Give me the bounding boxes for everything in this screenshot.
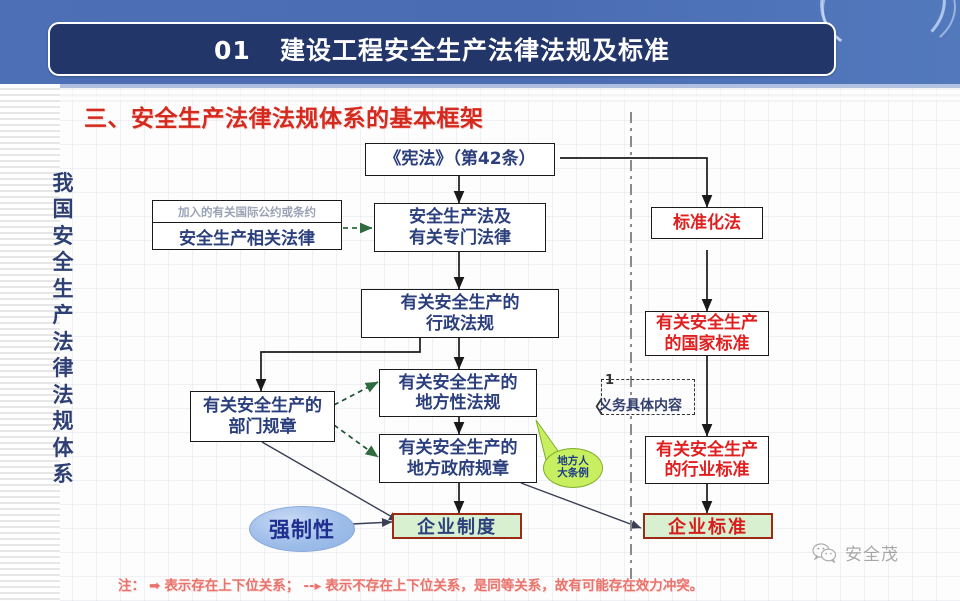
node-constitution-label: 《宪法》（第42条） [384, 149, 535, 169]
node-related-laws-label: 安全生产相关法律 [153, 223, 341, 249]
watermark-text: 安全茂 [845, 540, 899, 565]
callout-text: 地方人 大条例 [557, 456, 589, 480]
callout-line1: 地方人 [557, 455, 589, 467]
node-safety-law-line2: 有关专门法律 [409, 228, 511, 248]
node-safety-law-line1: 安全生产法及 [409, 207, 511, 227]
node-national-std-line2: 的国家标准 [665, 334, 750, 354]
node-enterprise-system[interactable]: 企业制度 [392, 513, 522, 539]
node-enterprise-system-label: 企业制度 [417, 513, 497, 539]
node-international-treaty[interactable]: 加入的有关国际公约或条约 安全生产相关法律 [152, 200, 342, 250]
badge-mandatory-label: 强制性 [269, 514, 335, 544]
slide-canvas: 01 建设工程安全生产法律法规及标准 三、安全生产法律法规体系的基本框架 我 国… [0, 0, 960, 601]
callout-local-peoples-congress[interactable]: 地方人 大条例 [543, 448, 603, 488]
marquee-label: 义务具体内容 [598, 395, 682, 415]
node-standardization-law-label: 标准化法 [673, 213, 741, 233]
callout-line2: 大条例 [557, 467, 589, 479]
node-local-gov-rules-line2: 地方政府规章 [407, 459, 509, 479]
node-standardization-law[interactable]: 标准化法 [651, 207, 763, 239]
node-local-regulations[interactable]: 有关安全生产的 地方性法规 [379, 369, 537, 417]
node-admin-regs-line1: 有关安全生产的 [401, 293, 520, 313]
node-constitution[interactable]: 《宪法》（第42条） [365, 143, 555, 176]
node-department-rules[interactable]: 有关安全生产的 部门规章 [190, 391, 335, 442]
watermark: 安全茂 [812, 540, 899, 565]
badge-mandatory[interactable]: 强制性 [249, 506, 355, 552]
node-enterprise-standard[interactable]: 企业标准 [643, 513, 773, 539]
node-dept-rules-line1: 有关安全生产的 [203, 396, 322, 416]
node-admin-regs-line2: 行政法规 [426, 314, 494, 334]
node-local-gov-rules-line1: 有关安全生产的 [399, 438, 518, 458]
footnote-text-2: 表示不存在上下位关系，是同等关系，故有可能存在效力冲突。 [325, 578, 703, 594]
section-divider-dashdot [630, 112, 632, 582]
marquee-index: 1 [605, 373, 614, 388]
node-local-regs-line2: 地方性法规 [416, 393, 501, 413]
node-industry-standard[interactable]: 有关安全生产 的行业标准 [645, 436, 769, 484]
node-national-std-line1: 有关安全生产 [656, 313, 758, 333]
footnote-solid-arrow-icon: ➡ [149, 578, 160, 594]
node-industry-std-line2: 的行业标准 [665, 460, 750, 480]
wechat-icon [812, 542, 838, 564]
node-safety-production-law[interactable]: 安全生产法及 有关专门法律 [374, 203, 546, 252]
node-enterprise-standard-label: 企业标准 [668, 513, 748, 539]
footnote-prefix: 注： [118, 578, 145, 594]
node-industry-std-line1: 有关安全生产 [656, 440, 758, 460]
node-national-standard[interactable]: 有关安全生产 的国家标准 [645, 311, 769, 356]
node-treaty-note: 加入的有关国际公约或条约 [153, 201, 341, 223]
node-dept-rules-line2: 部门规章 [229, 417, 297, 437]
node-local-government-rules[interactable]: 有关安全生产的 地方政府规章 [379, 434, 537, 483]
footnote-text-1: 表示存在上下位关系； [164, 578, 299, 594]
node-local-regs-line1: 有关安全生产的 [399, 373, 518, 393]
footnote: 注：➡表示存在上下位关系；--▸表示不存在上下位关系，是同等关系，故有可能存在效… [118, 574, 838, 594]
footnote-dashed-arrow-icon: --▸ [303, 578, 321, 594]
node-administrative-regulations[interactable]: 有关安全生产的 行政法规 [361, 289, 559, 338]
